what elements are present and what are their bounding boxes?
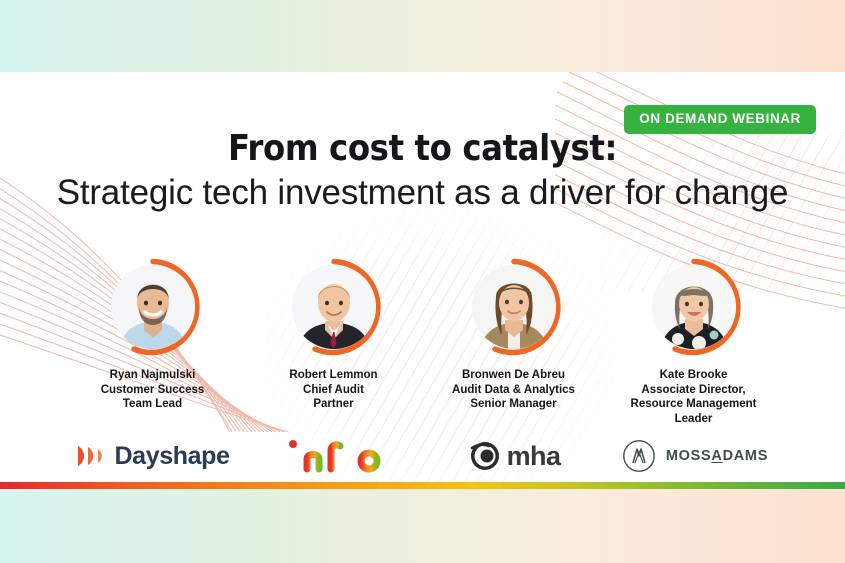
logo-mossadams: MOSSADAMS [605, 432, 785, 480]
mossadams-text-before: MOSS [666, 448, 712, 464]
speaker-role-line1: Chief Audit [289, 383, 377, 398]
speaker-photo [292, 265, 376, 349]
mossadams-text-after: DAMS [723, 448, 769, 464]
mha-wordmark: mha [507, 441, 561, 472]
speaker-photo [472, 265, 556, 349]
speaker-card: Ryan Najmulski Customer Success Team Lea… [62, 258, 244, 427]
speaker-role-line2: Partner [289, 397, 377, 412]
top-gradient-band [0, 0, 845, 72]
mossadams-circle-m-icon [622, 439, 656, 473]
speaker-photo [652, 265, 736, 349]
speaker-info: Ryan Najmulski Customer Success Team Lea… [101, 368, 205, 412]
speaker-name: Kate Brooke [631, 368, 757, 383]
rainbow-divider [0, 482, 845, 489]
logo-mha: mha [425, 432, 605, 480]
logo-dayshape: Dayshape [60, 432, 245, 480]
dayshape-chevrons-icon [76, 444, 108, 468]
speaker-info: Bronwen De Abreu Audit Data & Analytics … [452, 368, 575, 412]
mha-circle-icon [470, 441, 500, 471]
speaker-card: Kate Brooke Associate Director, Resource… [604, 258, 784, 427]
logo-inflo [245, 432, 425, 480]
mossadams-text-underlined: A [711, 448, 722, 464]
page-title-line2: Strategic tech investment as a driver fo… [0, 174, 845, 213]
speaker-info: Robert Lemmon Chief Audit Partner [289, 368, 377, 412]
speaker-role-line1: Associate Director, [631, 383, 757, 398]
webinar-promo-graphic: ON DEMAND WEBINAR From cost to catalyst:… [0, 0, 845, 563]
avatar [104, 258, 202, 356]
speaker-role-line1: Customer Success [101, 383, 205, 398]
speaker-card: Bronwen De Abreu Audit Data & Analytics … [424, 258, 604, 427]
avatar [465, 258, 563, 356]
speaker-name: Ryan Najmulski [101, 368, 205, 383]
speaker-photo [111, 265, 195, 349]
speaker-name: Robert Lemmon [289, 368, 377, 383]
inflo-wordmark-icon [287, 435, 383, 477]
mossadams-wordmark: MOSSADAMS [666, 448, 768, 464]
page-title-line1: From cost to catalyst: [0, 130, 845, 168]
speakers-row: Ryan Najmulski Customer Success Team Lea… [0, 258, 845, 427]
speaker-info: Kate Brooke Associate Director, Resource… [631, 368, 757, 427]
speaker-card: Robert Lemmon Chief Audit Partner [244, 258, 424, 427]
speaker-role-line2: Resource Management [631, 397, 757, 412]
avatar [285, 258, 383, 356]
speaker-role-line1: Audit Data & Analytics [452, 383, 575, 398]
bottom-gradient-band [0, 489, 845, 563]
sponsor-logos-row: Dayshape [0, 432, 845, 480]
speaker-name: Bronwen De Abreu [452, 368, 575, 383]
avatar [645, 258, 743, 356]
speaker-role-line2: Senior Manager [452, 397, 575, 412]
speaker-role-line3: Leader [631, 412, 757, 427]
dayshape-wordmark: Dayshape [115, 442, 230, 471]
speaker-role-line2: Team Lead [101, 397, 205, 412]
